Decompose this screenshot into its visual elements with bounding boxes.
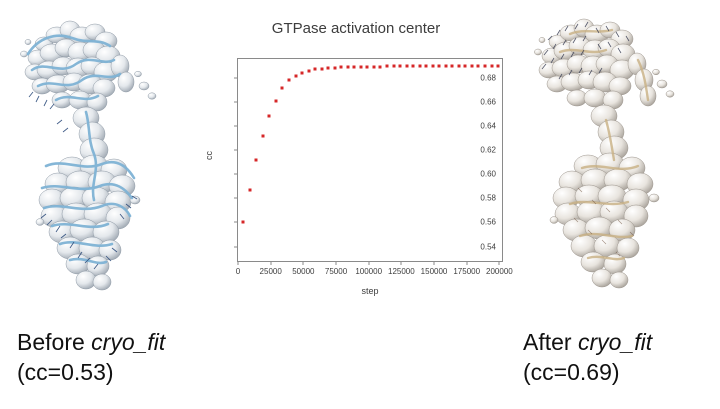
data-point [477,64,480,67]
y-tick-mark [234,198,238,199]
data-point [418,65,421,68]
caption-before-cc: (cc=0.53) [17,357,165,387]
x-tick-label: 50000 [292,267,314,276]
data-point [359,65,362,68]
data-point [399,65,402,68]
x-tick-label: 175000 [453,267,480,276]
y-tick-mark [234,222,238,223]
data-point [412,65,415,68]
data-point [333,66,336,69]
data-point [425,65,428,68]
x-tick-mark [401,261,402,265]
data-point [353,66,356,69]
y-tick-label: 0.58 [480,194,496,203]
x-tick-mark [336,261,337,265]
data-point [451,64,454,67]
caption-after-cc: (cc=0.69) [523,357,652,387]
data-point [301,71,304,74]
data-point [497,64,500,67]
y-tick-label: 0.68 [480,73,496,82]
data-point [261,135,264,138]
data-point [457,64,460,67]
data-point [385,65,388,68]
y-tick-mark [234,150,238,151]
y-tick-mark [234,125,238,126]
data-point [320,67,323,70]
data-point [431,65,434,68]
data-point [372,65,375,68]
data-point [287,79,290,82]
caption-after: After cryo_fit (cc=0.69) [523,327,652,387]
plot-area: 0.540.560.580.600.620.640.660.6802500050… [237,58,503,262]
x-axis-label: step [237,286,503,296]
y-tick-mark [234,101,238,102]
data-point [392,65,395,68]
x-tick-label: 150000 [421,267,448,276]
x-tick-mark [368,261,369,265]
data-point [379,65,382,68]
cryoem-density-after [518,8,718,318]
structure-render-after [518,8,718,318]
x-tick-mark [466,261,467,265]
data-point [464,64,467,67]
caption-after-emphasis: cryo_fit [578,329,652,355]
x-tick-label: 100000 [355,267,382,276]
caption-after-prefix: After [523,329,578,355]
y-tick-label: 0.62 [480,146,496,155]
plot-points-layer [238,59,502,261]
y-tick-label: 0.66 [480,97,496,106]
y-tick-mark [234,77,238,78]
y-tick-mark [234,174,238,175]
x-tick-mark [499,261,500,265]
x-tick-label: 25000 [260,267,282,276]
data-point [307,69,310,72]
data-point [248,189,251,192]
data-point [405,65,408,68]
y-axis-label: cc [204,151,214,160]
y-tick-label: 0.60 [480,170,496,179]
data-point [438,64,441,67]
x-tick-mark [434,261,435,265]
y-tick-label: 0.56 [480,218,496,227]
caption-before-prefix: Before [17,329,91,355]
data-point [242,220,245,223]
data-point [366,65,369,68]
data-point [294,74,297,77]
data-point [327,67,330,70]
cc-vs-step-chart: GTPase activation center cc 0.540.560.58… [196,10,516,300]
x-tick-label: 0 [236,267,240,276]
data-point [268,115,271,118]
x-tick-label: 75000 [325,267,347,276]
x-tick-label: 200000 [486,267,513,276]
y-tick-label: 0.64 [480,121,496,130]
data-point [490,64,493,67]
chart-title: GTPase activation center [196,20,516,37]
data-point [340,66,343,69]
data-point [470,64,473,67]
data-point [484,64,487,67]
data-point [274,99,277,102]
data-point [346,66,349,69]
caption-before-emphasis: cryo_fit [91,329,165,355]
x-tick-mark [270,261,271,265]
data-point [281,86,284,89]
structure-render-before [2,8,202,318]
y-tick-label: 0.54 [480,242,496,251]
cryoem-density-before [2,8,202,318]
x-tick-label: 125000 [388,267,415,276]
y-tick-mark [234,246,238,247]
data-point [444,64,447,67]
caption-before: Before cryo_fit (cc=0.53) [17,327,165,387]
x-tick-mark [238,261,239,265]
data-point [314,68,317,71]
x-tick-mark [303,261,304,265]
data-point [255,158,258,161]
